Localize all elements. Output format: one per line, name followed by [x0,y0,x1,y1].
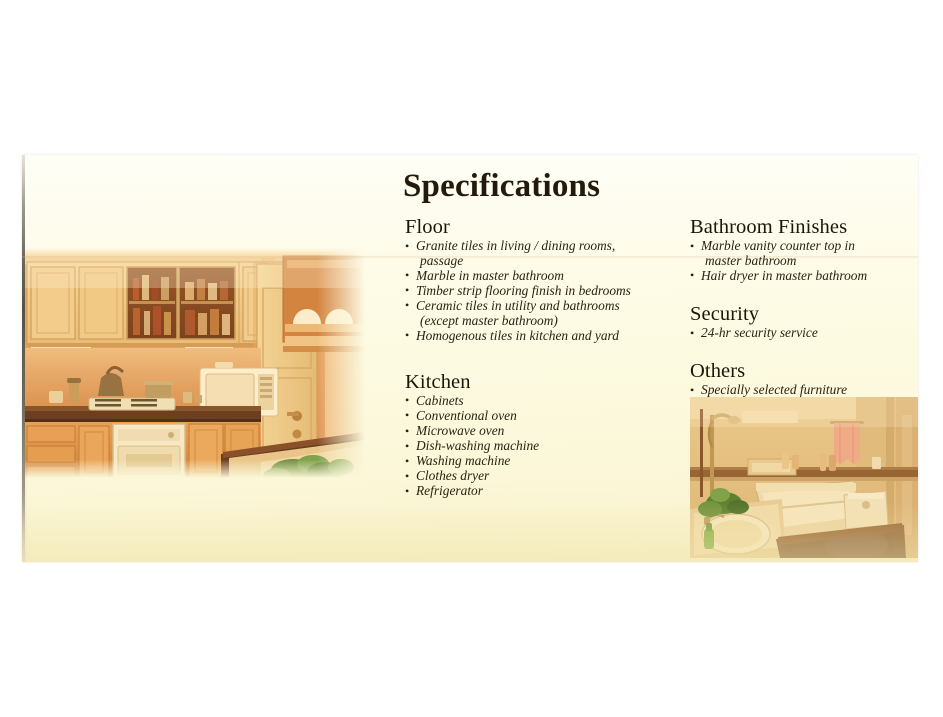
list-item: Microwave oven [405,424,675,439]
list-item: Granite tiles in living / dining rooms,p… [405,239,675,268]
list-item: Washing machine [405,454,675,469]
section-heading-kitchen: Kitchen [405,372,675,393]
list-item-continuation: passage [416,254,675,269]
list-item: Conventional oven [405,409,675,424]
security-list: 24-hr security service [690,326,918,341]
list-item-continuation: (except master bathroom) [416,314,675,329]
list-item-text: Marble vanity counter top in [701,238,855,253]
specifications-content: Specifications Floor Granite tiles in li… [22,155,918,562]
section-heading-security: Security [690,304,918,325]
list-item: 24-hr security service [690,326,918,341]
list-item: Marble vanity counter top inmaster bathr… [690,239,918,268]
list-item: Cabinets [405,394,675,409]
list-item: Marble in master bathroom [405,269,675,284]
others-list: Specially selected furniture [690,383,918,398]
list-item: Homogenous tiles in kitchen and yard [405,329,675,344]
section-heading-others: Others [690,361,918,382]
list-item: Ceramic tiles in utility and bathrooms(e… [405,299,675,328]
list-item-continuation: master bathroom [701,254,918,269]
list-item: Hair dryer in master bathroom [690,269,918,284]
list-item-text: Granite tiles in living / dining rooms, [416,238,615,253]
section-others: Others Specially selected furniture [690,361,918,398]
list-item: Clothes dryer [405,469,675,484]
section-gap [690,341,918,361]
right-column: Bathroom Finishes Marble vanity counter … [690,217,918,398]
section-gap [690,284,918,304]
section-security: Security 24-hr security service [690,304,918,341]
section-gap [405,344,675,372]
left-column: Floor Granite tiles in living / dining r… [405,217,675,500]
list-item: Timber strip flooring finish in bedrooms [405,284,675,299]
kitchen-list: Cabinets Conventional oven Microwave ove… [405,394,675,499]
list-item: Specially selected furniture [690,383,918,398]
page-title: Specifications [403,168,600,205]
section-kitchen: Kitchen Cabinets Conventional oven Micro… [405,372,675,499]
list-item: Refrigerator [405,484,675,499]
bathroom-finishes-list: Marble vanity counter top inmaster bathr… [690,239,918,283]
brochure-page: Specifications Floor Granite tiles in li… [22,155,918,562]
section-floor: Floor Granite tiles in living / dining r… [405,217,675,343]
scan-canvas: Specifications Floor Granite tiles in li… [0,0,943,717]
section-heading-floor: Floor [405,217,675,238]
list-item-text: Ceramic tiles in utility and bathrooms [416,298,620,313]
section-bathroom-finishes: Bathroom Finishes Marble vanity counter … [690,217,918,283]
list-item: Dish-washing machine [405,439,675,454]
section-heading-bathroom-finishes: Bathroom Finishes [690,217,918,238]
floor-list: Granite tiles in living / dining rooms,p… [405,239,675,343]
